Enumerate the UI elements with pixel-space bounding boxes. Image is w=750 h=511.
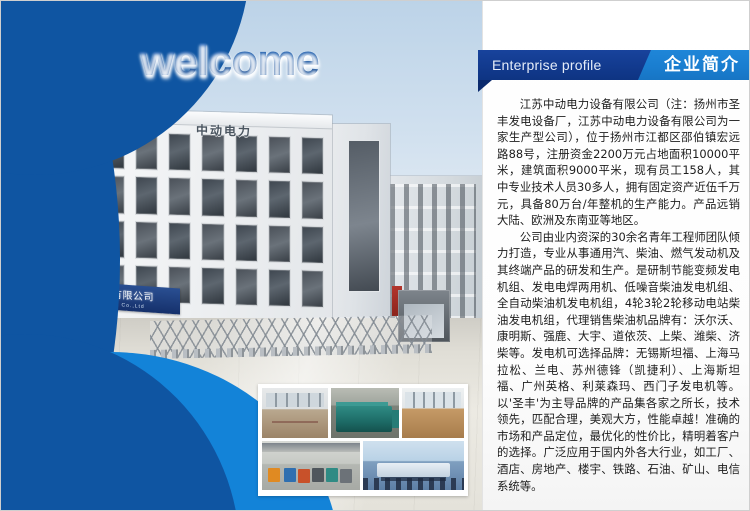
profile-paragraph-1: 江苏中动电力设备有限公司（注：扬州市圣丰发电设备厂，江苏中动电力设备有限公司为一… bbox=[497, 96, 740, 229]
photo-conference-room bbox=[363, 441, 464, 490]
photo-strip bbox=[258, 384, 468, 496]
window bbox=[201, 134, 224, 173]
section-title-en: Enterprise profile bbox=[492, 50, 601, 80]
window bbox=[268, 224, 291, 263]
window bbox=[301, 136, 324, 175]
profile-paragraph-2: 公司由业内资深的30余名青年工程师团队倾力打造，专业从事通用汽、柴油、燃气发动机… bbox=[497, 229, 740, 495]
section-header-tab: Enterprise profile 企业简介 bbox=[478, 50, 750, 80]
window bbox=[168, 133, 191, 172]
window bbox=[201, 178, 224, 217]
window bbox=[235, 179, 258, 218]
company-profile-page: 中动电力 扬州中动电力设备有限公司 Zhongdong Power Equipm… bbox=[0, 0, 750, 511]
window bbox=[268, 136, 291, 175]
window bbox=[235, 135, 258, 174]
photo-strip-row-top bbox=[262, 388, 464, 438]
window bbox=[168, 177, 191, 216]
window bbox=[268, 268, 291, 307]
window bbox=[268, 180, 291, 219]
photo-open-plan-office bbox=[402, 388, 464, 438]
hero-banner-left: 中动电力 扬州中动电力设备有限公司 Zhongdong Power Equipm… bbox=[0, 0, 482, 511]
welcome-wordmark: welcome bbox=[140, 36, 319, 86]
photo-office-meeting bbox=[262, 388, 328, 438]
photo-strip-row-bottom bbox=[262, 441, 464, 490]
photo-green-generator-sets bbox=[331, 388, 399, 438]
window bbox=[135, 220, 158, 259]
tower-slab bbox=[348, 140, 380, 292]
window bbox=[301, 181, 324, 220]
window bbox=[201, 222, 224, 261]
window bbox=[135, 176, 158, 215]
window bbox=[235, 223, 258, 262]
building-roof-sign: 中动电力 bbox=[196, 121, 252, 140]
section-title-cn: 企业简介 bbox=[664, 50, 740, 80]
window bbox=[201, 266, 224, 305]
window-grid bbox=[102, 131, 324, 308]
window bbox=[235, 267, 258, 306]
photo-factory-floor-gensets bbox=[262, 441, 360, 490]
retractable-gate bbox=[150, 315, 432, 359]
window bbox=[168, 221, 191, 260]
profile-panel: Enterprise profile 企业简介 江苏中动电力设备有限公司（注：扬… bbox=[482, 0, 750, 511]
window bbox=[301, 269, 324, 308]
profile-body: 江苏中动电力设备有限公司（注：扬州市圣丰发电设备厂，江苏中动电力设备有限公司为一… bbox=[497, 96, 740, 494]
profile-panel-inner: Enterprise profile 企业简介 江苏中动电力设备有限公司（注：扬… bbox=[482, 0, 750, 511]
window bbox=[301, 225, 324, 264]
